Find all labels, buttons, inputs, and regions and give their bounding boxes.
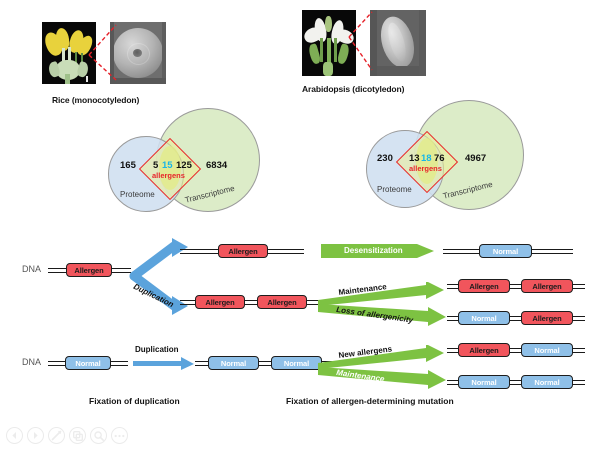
arabidopsis-pollen-sem-photo — [370, 10, 426, 76]
copy-button[interactable] — [69, 427, 86, 444]
arabidopsis-venn-diagram: 230 13 18 76 allergens 4967 Proteome Tra… — [358, 100, 548, 204]
arabidopsis-proteome-only-count: 230 — [377, 153, 393, 164]
gene-box-normal: Normal — [271, 356, 322, 370]
arabidopsis-overlap-center-count: 18 — [421, 153, 432, 164]
rice-venn-diagram: 165 5 15 125 allergens 6834 Proteome Tra… — [100, 108, 280, 208]
arabidopsis-species-caption: Arabidopsis (dicotyledon) — [302, 84, 404, 94]
gene-box-normal: Normal — [65, 356, 111, 370]
dna-tag-bottom: DNA — [22, 357, 41, 367]
gene-box-allergen: Allergen — [521, 279, 573, 293]
gene-box-normal: Normal — [479, 244, 532, 258]
caption-fixation-of-duplication: Fixation of duplication — [89, 396, 180, 406]
caption-fixation-of-mutation: Fixation of allergen-determining mutatio… — [286, 396, 454, 406]
row-maintenance-result: Allergen Allergen — [447, 278, 597, 294]
gene-box-normal: Normal — [208, 356, 259, 370]
figure-canvas: Rice (monocotyledon) 165 5 15 125 allerg… — [0, 0, 600, 450]
rice-overlap-center-count: 15 — [162, 160, 173, 171]
more-button[interactable] — [111, 427, 128, 444]
gene-box-allergen: Allergen — [218, 244, 268, 258]
row-source-allergen-duplicated: Allergen Allergen — [180, 294, 340, 310]
row-maintenance-normal-result: Normal Normal — [447, 374, 597, 390]
gene-box-allergen: Allergen — [257, 295, 307, 309]
viewer-toolbar — [6, 427, 128, 444]
copy-icon — [73, 431, 83, 441]
arabidopsis-transcriptome-only-count: 4967 — [465, 153, 486, 164]
gene-box-normal: Normal — [521, 343, 573, 357]
arabidopsis-callout-lines — [348, 10, 374, 76]
rice-overlap-right-count: 125 — [176, 160, 192, 171]
zoom-button[interactable] — [90, 427, 107, 444]
chevron-left-icon — [10, 431, 19, 440]
previous-button[interactable] — [6, 427, 23, 444]
duplication-label-bottom: Duplication — [135, 345, 179, 354]
gene-box-allergen: Allergen — [195, 295, 245, 309]
gene-box-normal: Normal — [458, 311, 510, 325]
rice-pollen-sem-photo — [110, 22, 166, 84]
rice-proteome-label: Proteome — [120, 190, 155, 199]
gene-box-allergen: Allergen — [66, 263, 112, 277]
rice-overlap-left-count: 5 — [153, 160, 158, 171]
pen-icon — [51, 430, 62, 441]
annotate-button[interactable] — [48, 427, 65, 444]
gene-box-normal: Normal — [521, 375, 573, 389]
next-button[interactable] — [27, 427, 44, 444]
rice-proteome-only-count: 165 — [120, 160, 136, 171]
gene-box-allergen: Allergen — [521, 311, 573, 325]
ellipsis-icon — [114, 434, 125, 438]
rice-callout-lines — [88, 22, 118, 84]
arabidopsis-overlap-right-count: 76 — [434, 153, 445, 164]
rice-transcriptome-only-count: 6834 — [206, 160, 227, 171]
arabidopsis-proteome-label: Proteome — [377, 185, 412, 194]
arabidopsis-allergens-label: allergens — [409, 164, 442, 173]
arabidopsis-overlap-left-count: 13 — [409, 153, 420, 164]
row-new-allergens-result: Allergen Normal — [447, 342, 597, 358]
duplication-arrow-bottom — [133, 357, 195, 371]
row-desensitization-result: Normal — [443, 243, 593, 259]
rice-species-caption: Rice (monocotyledon) — [52, 95, 139, 105]
chevron-right-icon — [31, 431, 40, 440]
row-loss-allergenicity-result: Normal Allergen — [447, 310, 597, 326]
desensitization-label: Desensitization — [344, 246, 403, 255]
magnifier-icon — [94, 431, 104, 441]
gene-box-allergen: Allergen — [458, 279, 510, 293]
gene-box-allergen: Allergen — [458, 343, 510, 357]
row-branch-allergen-single: Allergen — [180, 243, 325, 259]
dna-tag-top: DNA — [22, 264, 41, 274]
gene-box-normal: Normal — [458, 375, 510, 389]
rice-allergens-label: allergens — [152, 171, 185, 180]
